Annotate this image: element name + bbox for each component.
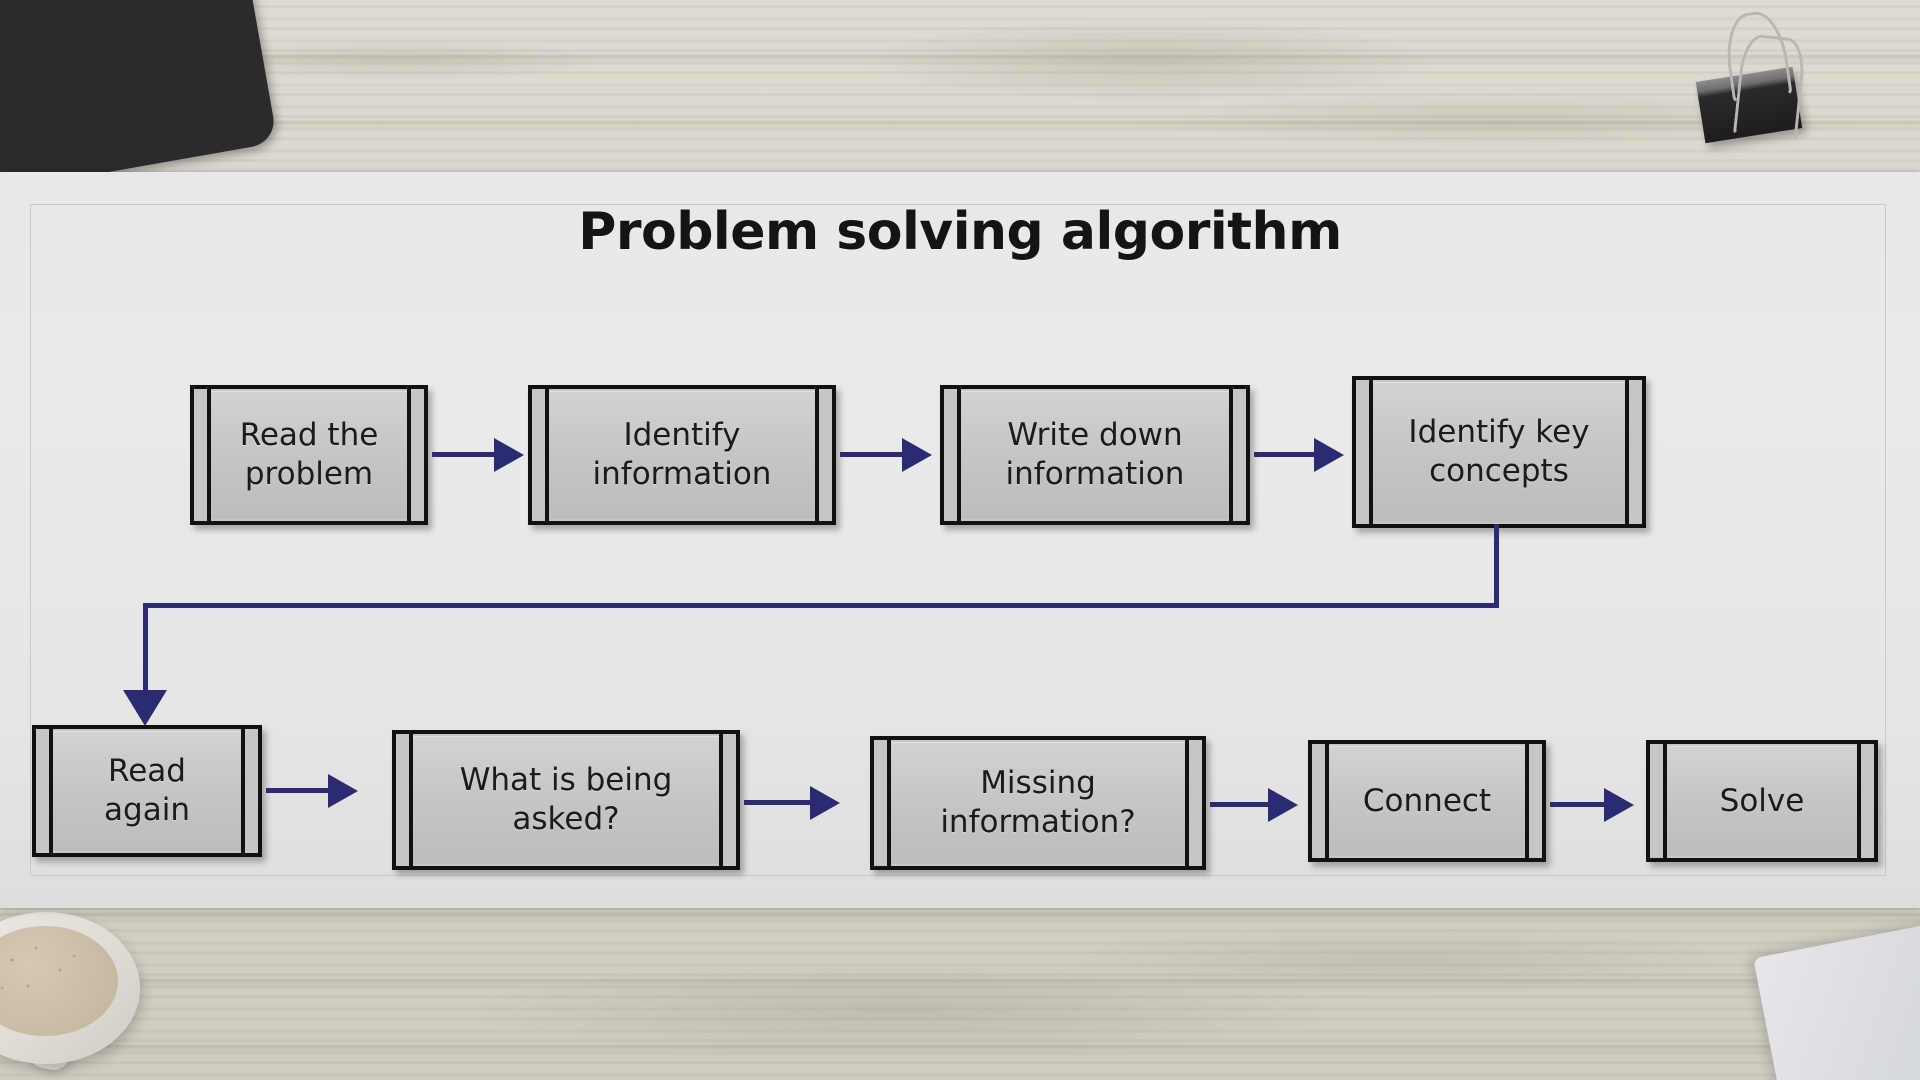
flow-node-read-again[interactable]: Read again [32, 725, 262, 857]
connector-n6-n7-arrowhead [810, 786, 840, 820]
flow-node-label: Missing information? [874, 764, 1202, 842]
screenshot-stage: Problem solving algorithm Read the probl… [0, 0, 1920, 1080]
flow-node-connect[interactable]: Connect [1308, 740, 1546, 862]
connector-n8-n9-arrowhead [1604, 788, 1634, 822]
flow-node-identify-key-concepts[interactable]: Identify key concepts [1352, 376, 1646, 528]
flow-node-label: Write down information [944, 416, 1246, 494]
connector-n8-n9-line [1550, 802, 1608, 807]
flow-node-solve[interactable]: Solve [1646, 740, 1878, 862]
flow-node-label: Identify key concepts [1356, 413, 1642, 491]
flow-node-identify-information[interactable]: Identify information [528, 385, 836, 525]
connector-n5-n6-arrowhead [328, 774, 358, 808]
connector-n7-n8-arrowhead [1268, 788, 1298, 822]
connector-n4-n5-vertical-drop [143, 603, 148, 698]
connector-n4-n5-arrowhead [123, 690, 167, 726]
flow-node-write-down-information[interactable]: Write down information [940, 385, 1250, 525]
flow-node-label: Connect [1312, 782, 1542, 821]
flow-node-label: Read the problem [194, 416, 424, 494]
connector-n3-n4-line [1254, 452, 1318, 457]
flow-node-read-the-problem[interactable]: Read the problem [190, 385, 428, 525]
flow-node-label: What is being asked? [396, 761, 736, 839]
flow-node-what-is-being-asked[interactable]: What is being asked? [392, 730, 740, 870]
connector-n4-n5-vertical-down [1494, 524, 1499, 608]
connector-n2-n3-line [840, 452, 906, 457]
connector-n5-n6-line [266, 788, 334, 793]
connector-n6-n7-line [744, 800, 816, 805]
connector-n2-n3-arrowhead [902, 438, 932, 472]
flow-node-label: Identify information [532, 416, 832, 494]
connector-n7-n8-line [1210, 802, 1272, 807]
connector-n3-n4-arrowhead [1314, 438, 1344, 472]
connector-n1-n2-line [432, 452, 498, 457]
flow-node-label: Read again [36, 752, 258, 830]
connector-n4-n5-horizontal [143, 603, 1499, 608]
connector-n1-n2-arrowhead [494, 438, 524, 472]
flow-node-missing-information[interactable]: Missing information? [870, 736, 1206, 870]
flow-node-label: Solve [1650, 782, 1874, 821]
page-title: Problem solving algorithm [0, 202, 1920, 262]
